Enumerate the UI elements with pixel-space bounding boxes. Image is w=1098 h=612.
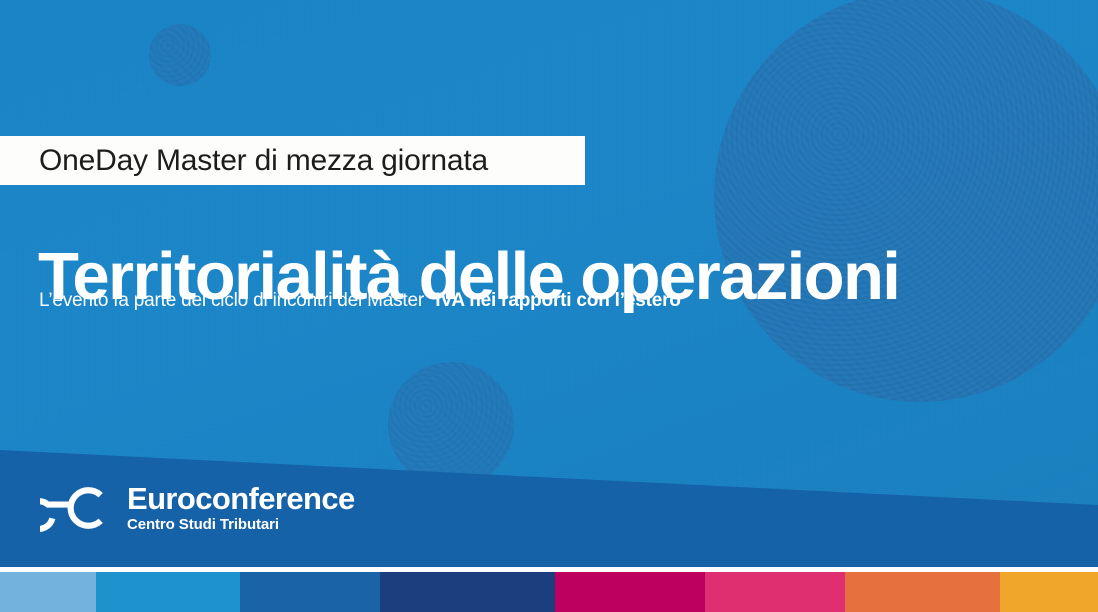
event-banner: OneDay Master di mezza giornata Territor… xyxy=(0,0,1098,612)
eyebrow-banner: OneDay Master di mezza giornata xyxy=(0,136,585,185)
eyebrow-text: OneDay Master di mezza giornata xyxy=(39,146,488,176)
stripe-segment-magenta xyxy=(555,572,705,612)
brand-wordmark: Euroconference Centro Studi Tributari xyxy=(127,483,355,534)
subtitle-strong: IVA nei rapporti con l’estero xyxy=(435,290,680,311)
ec-monogram-icon xyxy=(40,482,114,534)
stripe-segment-orange xyxy=(845,572,1000,612)
subtitle-prefix: L’evento fa parte del ciclo di incontri … xyxy=(39,290,435,311)
decorative-circle-small xyxy=(149,24,211,86)
stripe-segment-amber xyxy=(1000,572,1098,612)
brand-name: Euroconference xyxy=(127,483,355,515)
brand-logo: Euroconference Centro Studi Tributari xyxy=(40,482,355,534)
stripe-segment-medium-blue xyxy=(240,572,380,612)
subtitle-suffix: ” xyxy=(681,290,687,311)
subtitle: L’evento fa parte del ciclo di incontri … xyxy=(39,290,687,313)
decorative-circle-mid xyxy=(388,362,514,488)
stripe-segment-bright-blue xyxy=(96,572,240,612)
stripe-segment-pink xyxy=(705,572,845,612)
stripe-segment-navy-blue xyxy=(380,572,555,612)
brand-tagline: Centro Studi Tributari xyxy=(127,516,355,533)
color-stripe xyxy=(0,572,1098,612)
stripe-segment-light-blue xyxy=(0,572,96,612)
